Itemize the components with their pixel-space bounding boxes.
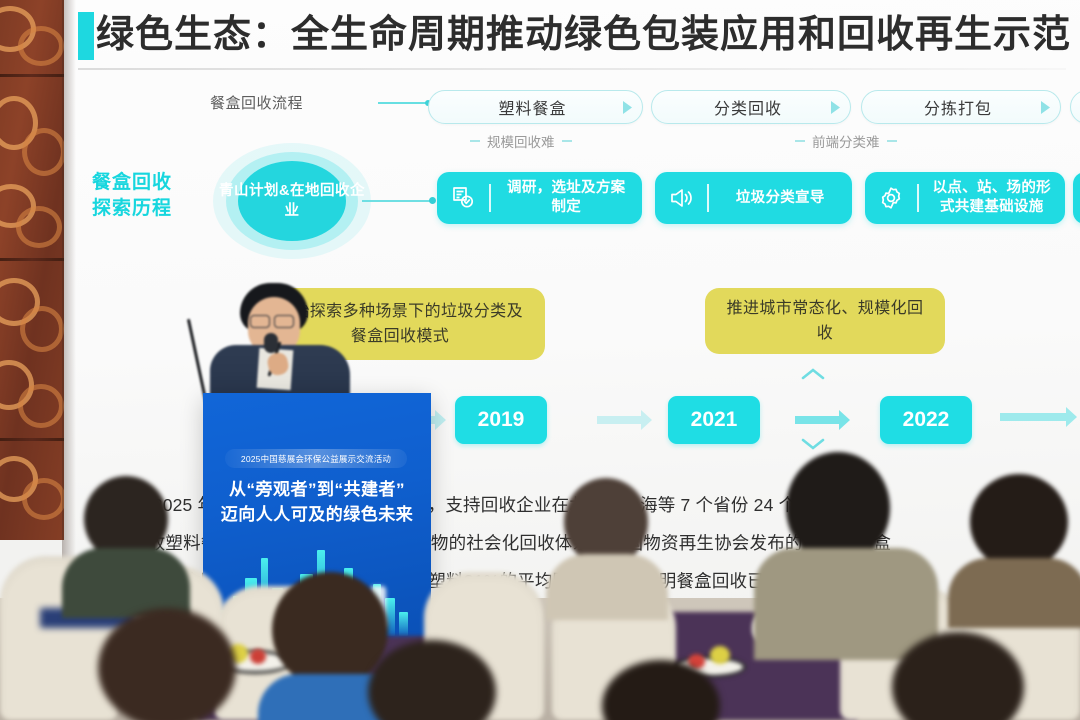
journey-side-label: 餐盒回收 探索历程 — [92, 170, 202, 222]
podium-ribbon: 2025中国慈展会环保公益展示交流活动 — [225, 449, 407, 468]
audience-person-6 — [948, 474, 1080, 614]
timeline-note-2: 推进城市常态化、规模化回收 — [705, 288, 945, 354]
person-shoulders — [546, 554, 668, 620]
group-caption-2: 前端分类难 — [795, 131, 897, 151]
timeline-year-2022[interactable]: 2022 — [880, 396, 972, 444]
wood-ornament — [18, 384, 64, 428]
speaker-glasses-right — [274, 315, 294, 328]
chevron-right-icon — [1030, 100, 1060, 115]
dash-decoration — [470, 140, 480, 142]
chevron-right-icon — [820, 100, 850, 115]
journey-action-1-label: 调研，选址及方案制定 — [491, 179, 643, 217]
timeline-year-2019[interactable]: 2019 — [455, 396, 547, 444]
screenshot-root: 绿色生态：全生命周期推动绿色包装应用和回收再生示范 餐盒回收流程 塑料餐盒 分类… — [0, 0, 1080, 720]
dash-decoration — [795, 140, 805, 142]
flow-row-label: 餐盒回收流程 — [210, 92, 303, 113]
flow-chip-2[interactable]: 分类回收 — [651, 90, 851, 124]
person-head — [970, 474, 1068, 570]
wood-ornament — [18, 26, 64, 66]
audience-person-5 — [754, 452, 930, 642]
group-caption-1: 规模回收难 — [470, 131, 572, 151]
person-head — [98, 608, 236, 720]
journey-action-4-clipped[interactable] — [1073, 172, 1080, 224]
wood-seam — [0, 74, 64, 77]
carved-wood-panel — [0, 0, 64, 540]
audience-person-1 — [62, 476, 182, 596]
wood-ornament — [22, 478, 64, 520]
flow-chip-1-label: 塑料餐盒 — [429, 95, 612, 119]
title-underline — [78, 68, 1066, 70]
slide-title: 绿色生态：全生命周期推动绿色包装应用和回收再生示范 — [96, 6, 1066, 64]
journey-action-3[interactable]: 以点、站、场的形式共建基础设施 — [865, 172, 1065, 224]
audience-person-7 — [348, 640, 516, 720]
audience-person-2 — [74, 608, 260, 720]
gear-icon — [865, 185, 917, 211]
wood-seam — [0, 258, 64, 261]
person-head — [892, 632, 1024, 720]
podium-headline-line1: 从“旁观者”到“共建者” — [213, 477, 421, 502]
megaphone-icon — [655, 185, 707, 211]
journey-bubble[interactable]: 青山计划&在地回收企业 — [212, 142, 372, 260]
journey-bubble-label: 青山计划&在地回收企业 — [212, 181, 372, 221]
flow-chip-1[interactable]: 塑料餐盒 — [428, 90, 643, 124]
flow-chip-3[interactable]: 分拣打包 — [861, 90, 1061, 124]
audience-person-9 — [874, 632, 1044, 720]
flow-connector-line — [378, 102, 430, 104]
wood-ornament — [20, 306, 64, 352]
group-caption-2-label: 前端分类难 — [812, 131, 880, 151]
chevron-up-icon — [800, 366, 826, 387]
journey-action-2[interactable]: 垃圾分类宣导 — [655, 172, 852, 224]
journey-side-label-line1: 餐盒回收 — [92, 170, 202, 196]
flow-chip-3-label: 分拣打包 — [862, 95, 1030, 119]
wood-seam — [0, 438, 64, 441]
podium-ribbon-label: 2025中国慈展会环保公益展示交流活动 — [241, 453, 391, 465]
timeline-arrow-1 — [597, 409, 653, 436]
dash-decoration — [887, 140, 897, 142]
speaker-presenter — [206, 283, 356, 408]
title-accent-bar — [78, 12, 94, 60]
dash-decoration — [562, 140, 572, 142]
person-head — [564, 478, 648, 566]
timeline-arrow-3 — [1000, 406, 1078, 433]
chevron-right-icon — [612, 100, 642, 115]
podium-headline: 从“旁观者”到“共建者” 迈向人人可及的绿色未来 — [213, 477, 421, 527]
wood-ornament — [22, 128, 64, 176]
journey-action-3-label: 以点、站、场的形式共建基础设施 — [919, 179, 1066, 217]
bubble-connector-line — [362, 200, 434, 202]
timeline-year-2021[interactable]: 2021 — [668, 396, 760, 444]
audience-person-8 — [586, 660, 736, 720]
wood-ornament — [16, 206, 62, 248]
timeline-arrow-2 — [795, 409, 851, 436]
journey-side-label-line2: 探索历程 — [92, 196, 202, 222]
person-shoulders — [948, 558, 1080, 628]
journey-action-1[interactable]: 调研，选址及方案制定 — [437, 172, 642, 224]
person-head — [602, 660, 720, 720]
group-caption-1-label: 规模回收难 — [487, 131, 555, 151]
audience-person-4 — [546, 478, 664, 610]
microphone-head — [264, 333, 278, 353]
flow-chip-2-label: 分类回收 — [652, 95, 820, 119]
document-check-icon — [437, 185, 489, 211]
podium-headline-line2: 迈向人人可及的绿色未来 — [213, 502, 421, 527]
journey-action-2-label: 垃圾分类宣导 — [709, 189, 853, 208]
speaker-glasses-left — [250, 315, 270, 328]
person-head — [368, 640, 496, 720]
